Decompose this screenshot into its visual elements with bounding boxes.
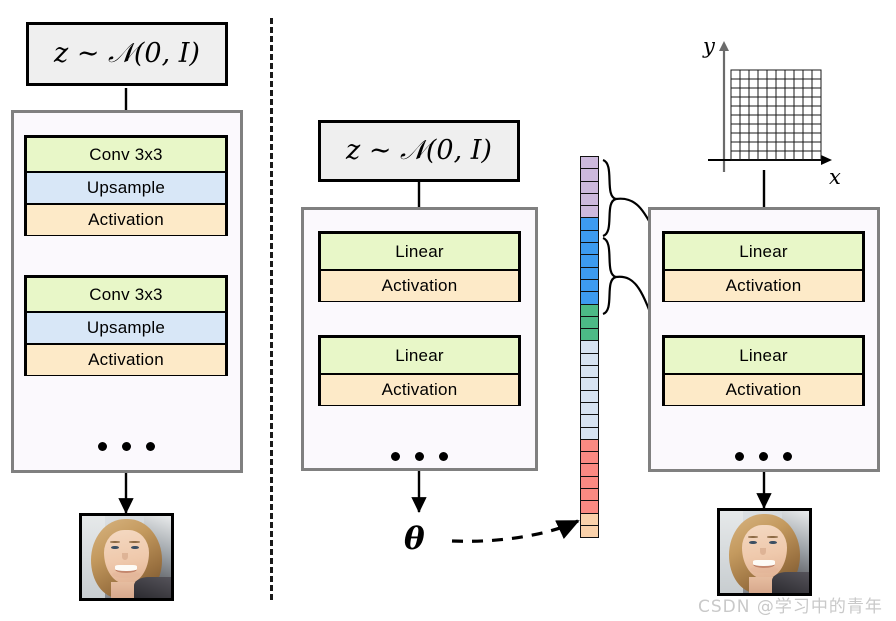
middle-latent-box: z ∼ 𝒩(0, I) bbox=[318, 120, 520, 182]
left-block-1-row-conv: Conv 3x3 bbox=[27, 138, 225, 171]
parameter-cell bbox=[581, 514, 598, 526]
left-block-2-row-upsample: Upsample bbox=[27, 311, 225, 343]
middle-block-1: Linear Activation bbox=[318, 231, 521, 302]
right-block-2-row-linear: Linear bbox=[665, 338, 862, 373]
brace-upper bbox=[603, 160, 616, 236]
parameter-cell bbox=[581, 477, 598, 489]
parameter-cell bbox=[581, 206, 598, 218]
parameter-cell bbox=[581, 255, 598, 267]
grid-axes bbox=[719, 41, 729, 172]
parameter-cell bbox=[581, 341, 598, 353]
left-block-1-row-upsample: Upsample bbox=[27, 171, 225, 203]
left-block-1-row-activation: Activation bbox=[27, 203, 225, 235]
grid-x-axis-label: x bbox=[829, 165, 841, 189]
parameter-vector-strip bbox=[580, 156, 599, 538]
right-output-image bbox=[717, 508, 812, 596]
right-block-1-row-linear: Linear bbox=[665, 234, 862, 269]
parameter-cell bbox=[581, 317, 598, 329]
csdn-watermark: CSDN @学习中的青年 bbox=[698, 592, 883, 617]
grid-y-axis-label: y bbox=[703, 34, 715, 58]
parameter-cell bbox=[581, 501, 598, 513]
middle-block-2-row-linear: Linear bbox=[321, 338, 518, 373]
middle-block-1-row-activation: Activation bbox=[321, 269, 518, 301]
parameter-cell bbox=[581, 415, 598, 427]
middle-block-2-row-activation: Activation bbox=[321, 373, 518, 405]
left-latent-box: z ∼ 𝒩(0, I) bbox=[26, 22, 228, 86]
right-block-1-row-activation: Activation bbox=[665, 269, 862, 301]
parameter-cell bbox=[581, 231, 598, 243]
parameter-cell bbox=[581, 403, 598, 415]
parameter-cell bbox=[581, 194, 598, 206]
middle-block-2: Linear Activation bbox=[318, 335, 521, 406]
parameter-cell bbox=[581, 391, 598, 403]
left-latent-label: z ∼ 𝒩(0, I) bbox=[54, 38, 200, 70]
middle-latent-label: z ∼ 𝒩(0, I) bbox=[346, 135, 492, 167]
parameter-cell bbox=[581, 428, 598, 440]
grid-cells bbox=[731, 70, 821, 160]
parameter-cell bbox=[581, 366, 598, 378]
parameter-cell bbox=[581, 280, 598, 292]
parameter-cell bbox=[581, 169, 598, 181]
arrow-theta-to-strip bbox=[452, 521, 578, 541]
right-block-1: Linear Activation bbox=[662, 231, 865, 302]
parameter-cell bbox=[581, 243, 598, 255]
left-ellipsis bbox=[98, 441, 155, 451]
left-block-2: Conv 3x3 Upsample Activation bbox=[24, 275, 228, 376]
parameter-cell bbox=[581, 329, 598, 341]
parameter-cell bbox=[581, 218, 598, 230]
right-ellipsis bbox=[735, 451, 792, 461]
parameter-cell bbox=[581, 452, 598, 464]
parameter-cell bbox=[581, 268, 598, 280]
parameter-cell bbox=[581, 378, 598, 390]
middle-ellipsis bbox=[391, 451, 448, 461]
parameter-cell bbox=[581, 489, 598, 501]
left-output-image bbox=[79, 513, 174, 601]
right-block-2-row-activation: Activation bbox=[665, 373, 862, 405]
parameter-cell bbox=[581, 464, 598, 476]
left-block-2-row-activation: Activation bbox=[27, 343, 225, 375]
panel-divider bbox=[270, 18, 273, 600]
middle-block-1-row-linear: Linear bbox=[321, 234, 518, 269]
parameter-cell bbox=[581, 440, 598, 452]
theta-symbol: θ bbox=[404, 521, 425, 557]
brace-lower bbox=[603, 238, 616, 314]
diagram-canvas: z ∼ 𝒩(0, I) Conv 3x3 Upsample Activation… bbox=[0, 0, 896, 621]
left-block-2-row-conv: Conv 3x3 bbox=[27, 278, 225, 311]
parameter-cell bbox=[581, 292, 598, 304]
left-block-1: Conv 3x3 Upsample Activation bbox=[24, 135, 228, 236]
parameter-cell bbox=[581, 182, 598, 194]
parameter-cell bbox=[581, 526, 598, 537]
parameter-cell bbox=[581, 354, 598, 366]
grid-axes-x bbox=[708, 155, 832, 165]
parameter-cell bbox=[581, 305, 598, 317]
right-block-2: Linear Activation bbox=[662, 335, 865, 406]
parameter-cell bbox=[581, 157, 598, 169]
